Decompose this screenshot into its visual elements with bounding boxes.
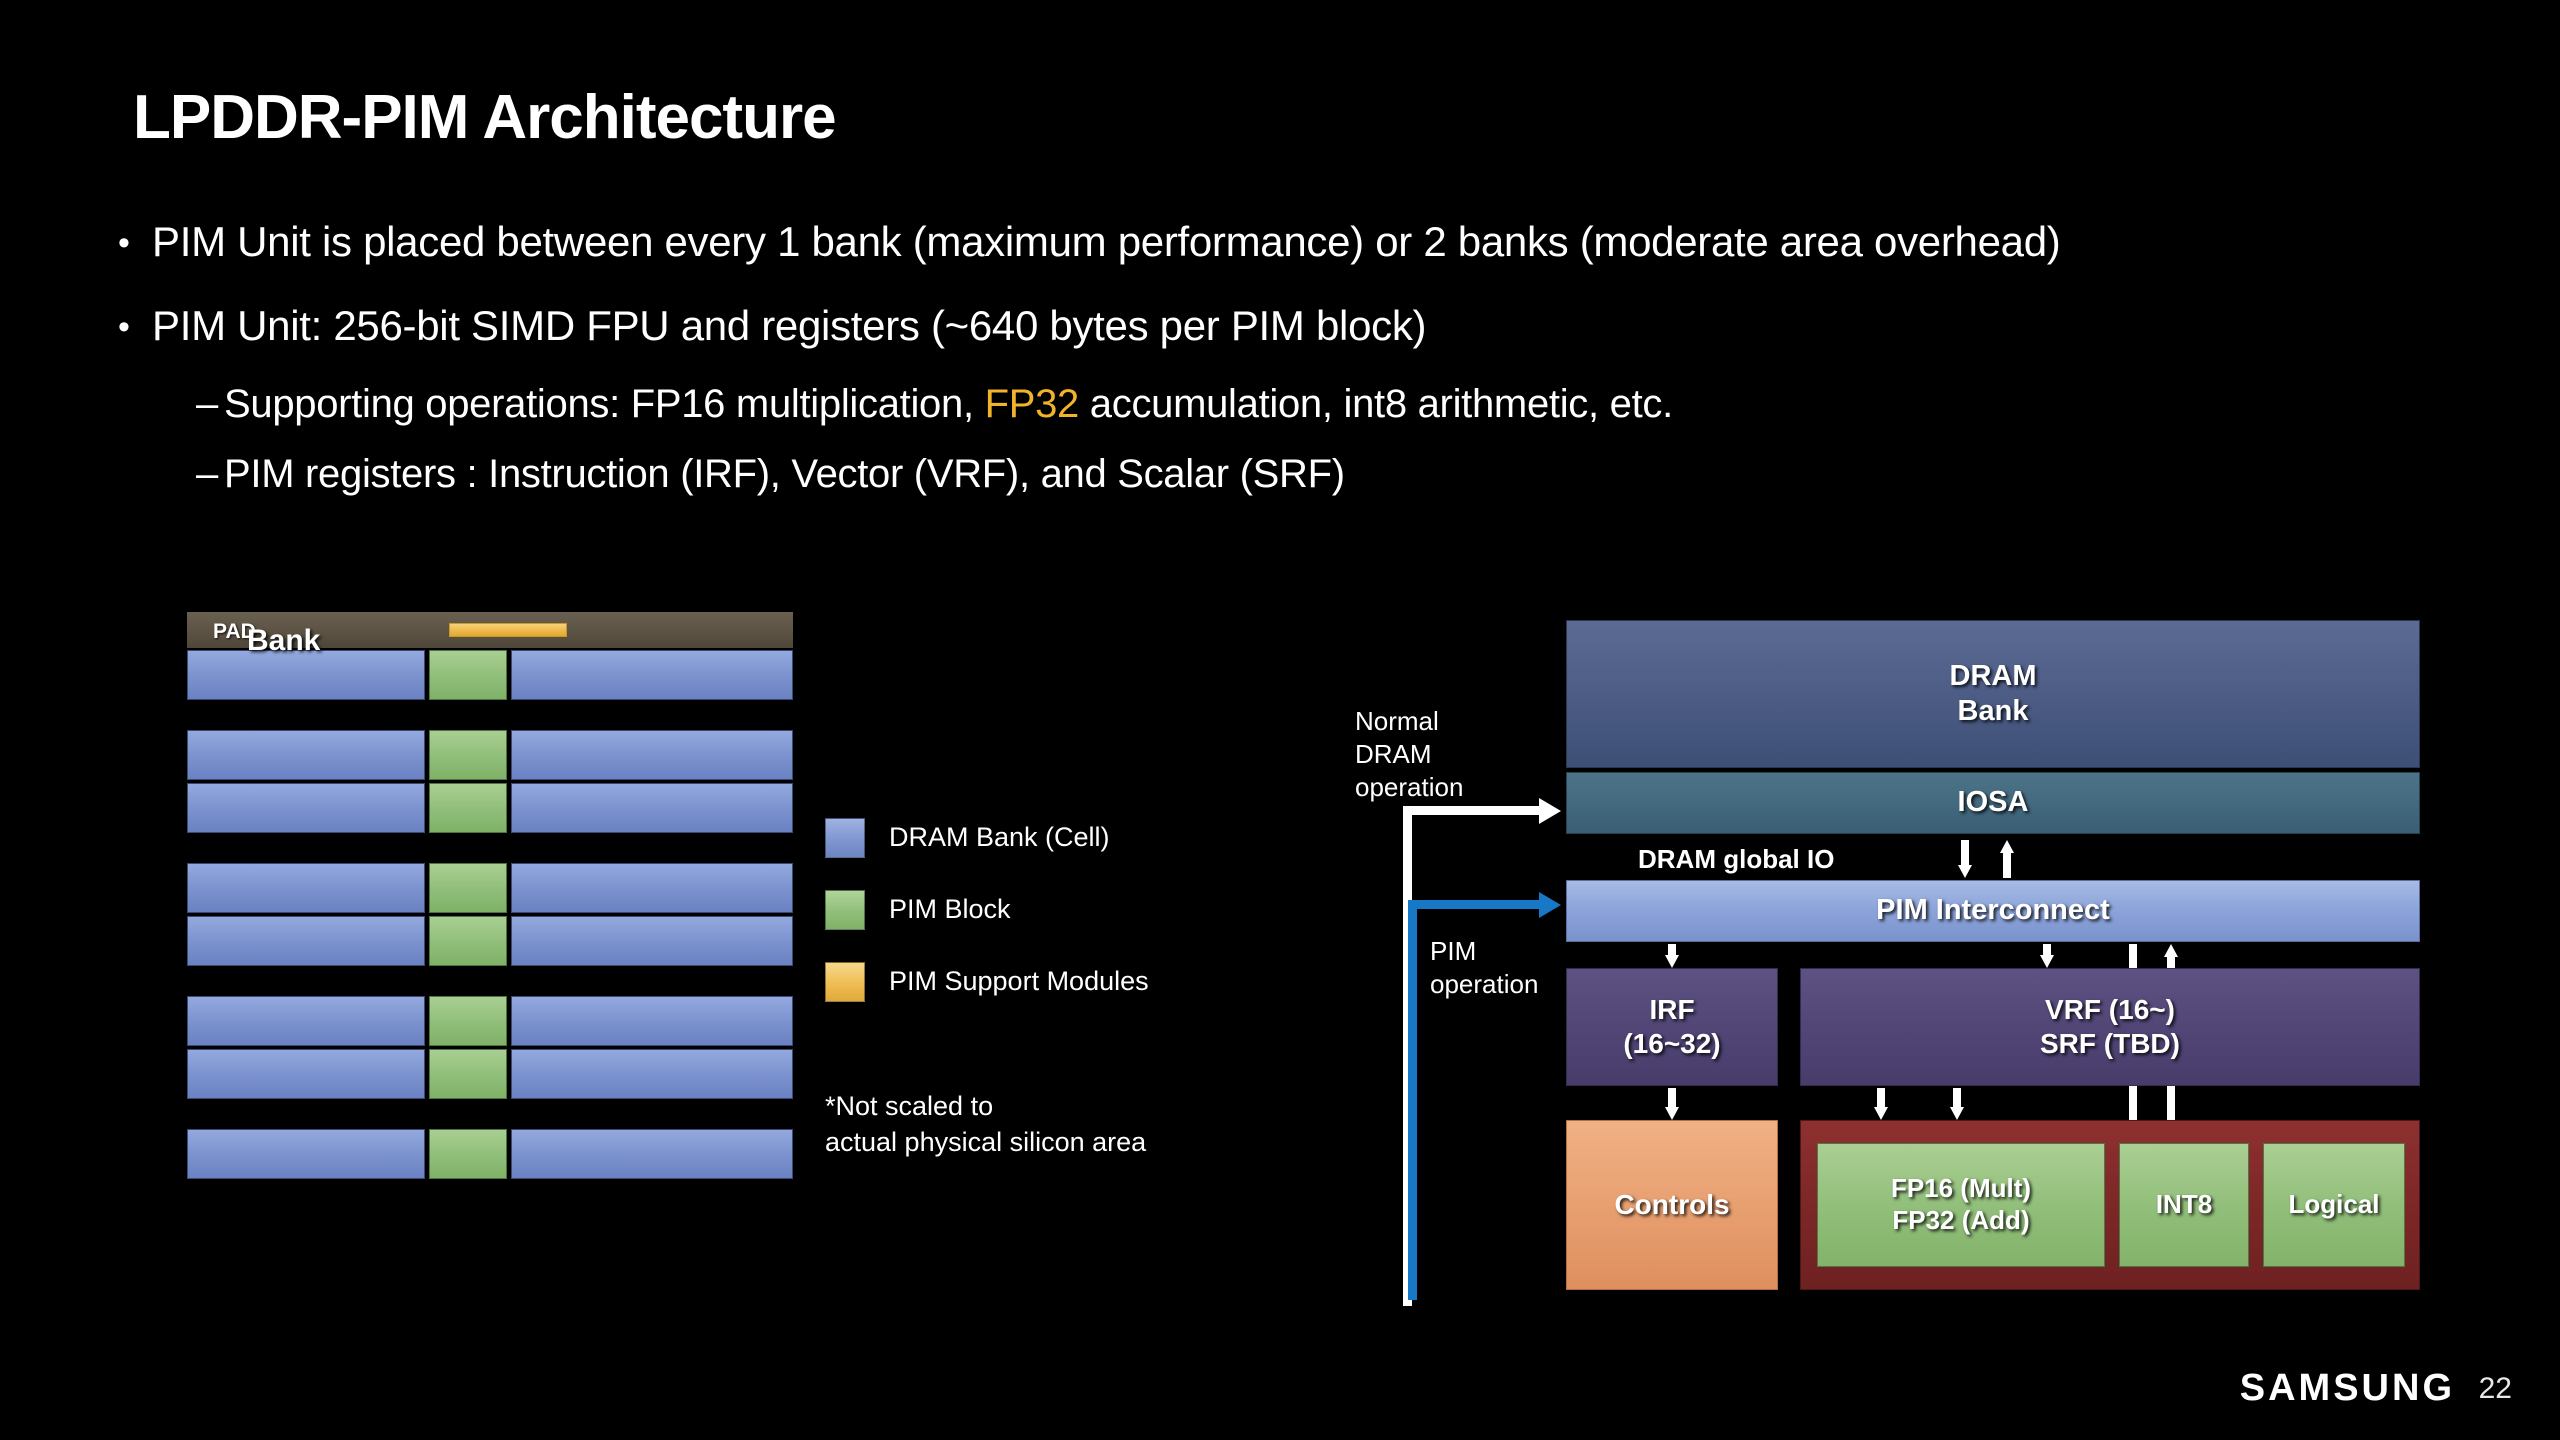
sub-bullet-text-post: accumulation, int8 arithmetic, etc. [1079, 382, 1673, 426]
pim-block-cell [429, 1129, 507, 1179]
dram-bank-cell [511, 916, 793, 966]
pim-block-cell [429, 650, 507, 700]
bullet-item-1: •PIM Unit is placed between every 1 bank… [118, 218, 2060, 266]
interconnect-to-vrf-arrow-icon [2040, 944, 2054, 968]
alu-fp-line2: FP32 (Add) [1891, 1205, 2031, 1237]
bank-array-diagram: PAD Bank [187, 612, 793, 1300]
vrf-to-fp-arrow-icon-a [1874, 1088, 1888, 1120]
normal-dram-operation-label: Normal DRAM operation [1355, 705, 1463, 804]
legend-swatch-icon [825, 818, 865, 858]
bullet-text: PIM Unit is placed between every 1 bank … [152, 218, 2060, 265]
page-number: 22 [2479, 1372, 2512, 1406]
pim-block-cell [429, 783, 507, 833]
dram-bank-cell [187, 783, 425, 833]
dram-bank-cell [187, 863, 425, 913]
dram-bank-cell [511, 650, 793, 700]
sub-bullet-text-pre: Supporting operations: FP16 multiplicati… [224, 382, 985, 426]
bullet-marker: • [118, 308, 152, 347]
sub-bullet-item-2: –PIM registers : Instruction (IRF), Vect… [196, 452, 1345, 497]
normal-line2: DRAM [1355, 738, 1463, 771]
sub-bullet-text: PIM registers : Instruction (IRF), Vecto… [224, 452, 1345, 496]
bullet-item-2: •PIM Unit: 256-bit SIMD FPU and register… [118, 302, 1426, 350]
alu-int8-block: INT8 [2119, 1143, 2249, 1267]
dram-bank-block: DRAM Bank [1566, 620, 2420, 768]
dram-bank-line2: Bank [1950, 694, 2037, 729]
pim-support-module-strip [449, 623, 567, 637]
pim-block-cell [429, 1049, 507, 1099]
bank-row [187, 783, 793, 833]
iosa-block: IOSA [1566, 772, 2420, 834]
dram-bank-line1: DRAM [1950, 659, 2037, 694]
global-io-up-arrow-icon [2000, 840, 2014, 878]
bullet-marker: • [118, 224, 152, 263]
sub-bullet-marker: – [196, 382, 224, 427]
pim-block-cell [429, 863, 507, 913]
dram-bank-cell [511, 863, 793, 913]
dram-bank-cell [187, 996, 425, 1046]
dram-bank-cell [511, 783, 793, 833]
dram-bank-cell [511, 1049, 793, 1099]
dram-bank-cell [511, 1129, 793, 1179]
dram-global-io-label: DRAM global IO [1638, 844, 1834, 875]
sub-bullet-item-1: –Supporting operations: FP16 multiplicat… [196, 382, 1673, 427]
samsung-logo: SAMSUNG [2240, 1367, 2455, 1410]
dram-bank-cell [187, 730, 425, 780]
legend-label: PIM Block [889, 894, 1011, 925]
sub-bullet-marker: – [196, 452, 224, 497]
alu-fp-line1: FP16 (Mult) [1891, 1173, 2031, 1205]
page-title: LPDDR-PIM Architecture [133, 82, 836, 153]
sub-bullet-highlight: FP32 [985, 382, 1079, 426]
bullet-text: PIM Unit: 256-bit SIMD FPU and registers… [152, 302, 1426, 349]
dram-bank-cell [511, 996, 793, 1046]
interconnect-to-irf-arrow-icon [1665, 944, 1679, 968]
irf-to-controls-arrow-icon [1665, 1088, 1679, 1120]
scale-note: *Not scaled to actual physical silicon a… [825, 1088, 1146, 1160]
pim-interconnect-block: PIM Interconnect [1566, 880, 2420, 942]
dram-bank-cell [511, 730, 793, 780]
legend-swatch-icon [825, 962, 865, 1002]
vrf-to-fp-arrow-icon-b [1950, 1088, 1964, 1120]
irf-line2: (16~32) [1623, 1027, 1720, 1061]
irf-block: IRF (16~32) [1566, 968, 1778, 1086]
legend-swatch-icon [825, 890, 865, 930]
alu-logical-block: Logical [2263, 1143, 2405, 1267]
irf-line1: IRF [1623, 993, 1720, 1027]
vrf-srf-block: VRF (16~) SRF (TBD) [1800, 968, 2420, 1086]
pim-block-cell [429, 916, 507, 966]
bank-row [187, 996, 793, 1046]
legend-label: PIM Support Modules [889, 966, 1149, 997]
bank-row [187, 863, 793, 913]
pim-block-cell [429, 996, 507, 1046]
alu-fp-block: FP16 (Mult) FP32 (Add) [1817, 1143, 2105, 1267]
dram-bank-cell [187, 1129, 425, 1179]
bank-row [187, 1049, 793, 1099]
dram-bank-cell [187, 916, 425, 966]
scale-note-line2: actual physical silicon area [825, 1124, 1146, 1160]
pim-block-cell [429, 730, 507, 780]
normal-line1: Normal [1355, 705, 1463, 738]
bank-row [187, 916, 793, 966]
bank-row [187, 730, 793, 780]
normal-line3: operation [1355, 771, 1463, 804]
srf-line: SRF (TBD) [2040, 1027, 2180, 1061]
legend-label: DRAM Bank (Cell) [889, 822, 1110, 853]
pim-flow-arrow-icon [1408, 900, 1568, 1300]
alu-container: FP16 (Mult) FP32 (Add) INT8 Logical [1800, 1120, 2420, 1290]
controls-block: Controls [1566, 1120, 1778, 1290]
vrf-line: VRF (16~) [2040, 993, 2180, 1027]
bank-label: Bank [247, 624, 320, 658]
dram-bank-cell [187, 1049, 425, 1099]
global-io-down-arrow-icon [1958, 840, 1972, 878]
bank-row [187, 1129, 793, 1179]
scale-note-line1: *Not scaled to [825, 1088, 1146, 1124]
